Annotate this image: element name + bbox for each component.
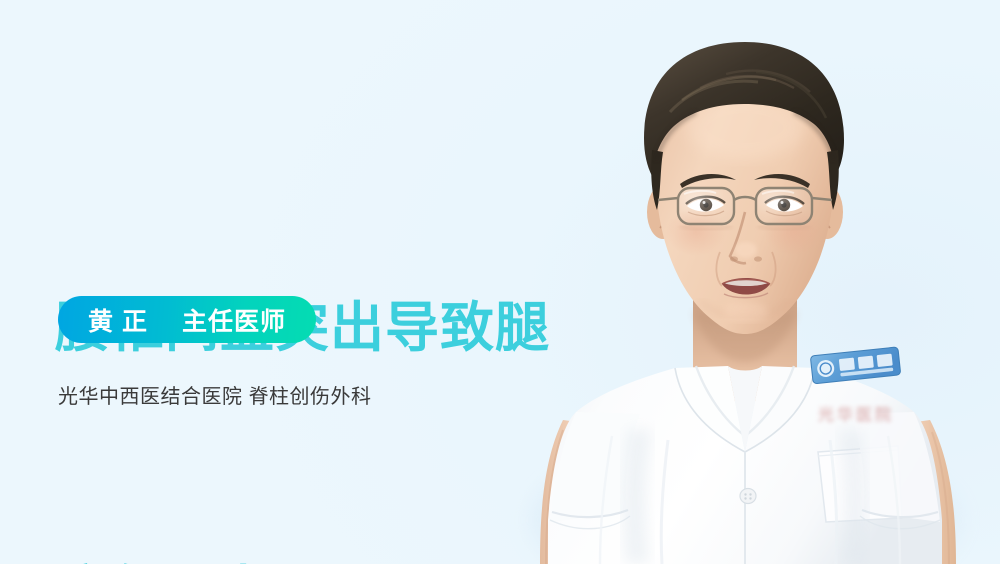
doctor-name-badge: 黄 正 主任医师 xyxy=(58,296,316,343)
title-line-2: 疼怎么办 xyxy=(55,548,635,564)
doctor-rank: 主任医师 xyxy=(182,302,286,338)
doctor-name: 黄 正 xyxy=(88,302,148,338)
department-name: 脊柱创伤外科 xyxy=(249,386,372,408)
svg-text:光华医院: 光华医院 xyxy=(817,405,894,424)
hospital-id-card xyxy=(810,347,900,384)
chest-embroidery: 光华医院 xyxy=(817,405,894,424)
head xyxy=(644,42,844,334)
hospital-name: 光华中西医结合医院 xyxy=(58,386,243,408)
affiliation-line: 光华中西医结合医院 脊柱创伤外科 xyxy=(58,380,372,409)
video-cover-canvas: 光华医院 xyxy=(0,0,1000,564)
